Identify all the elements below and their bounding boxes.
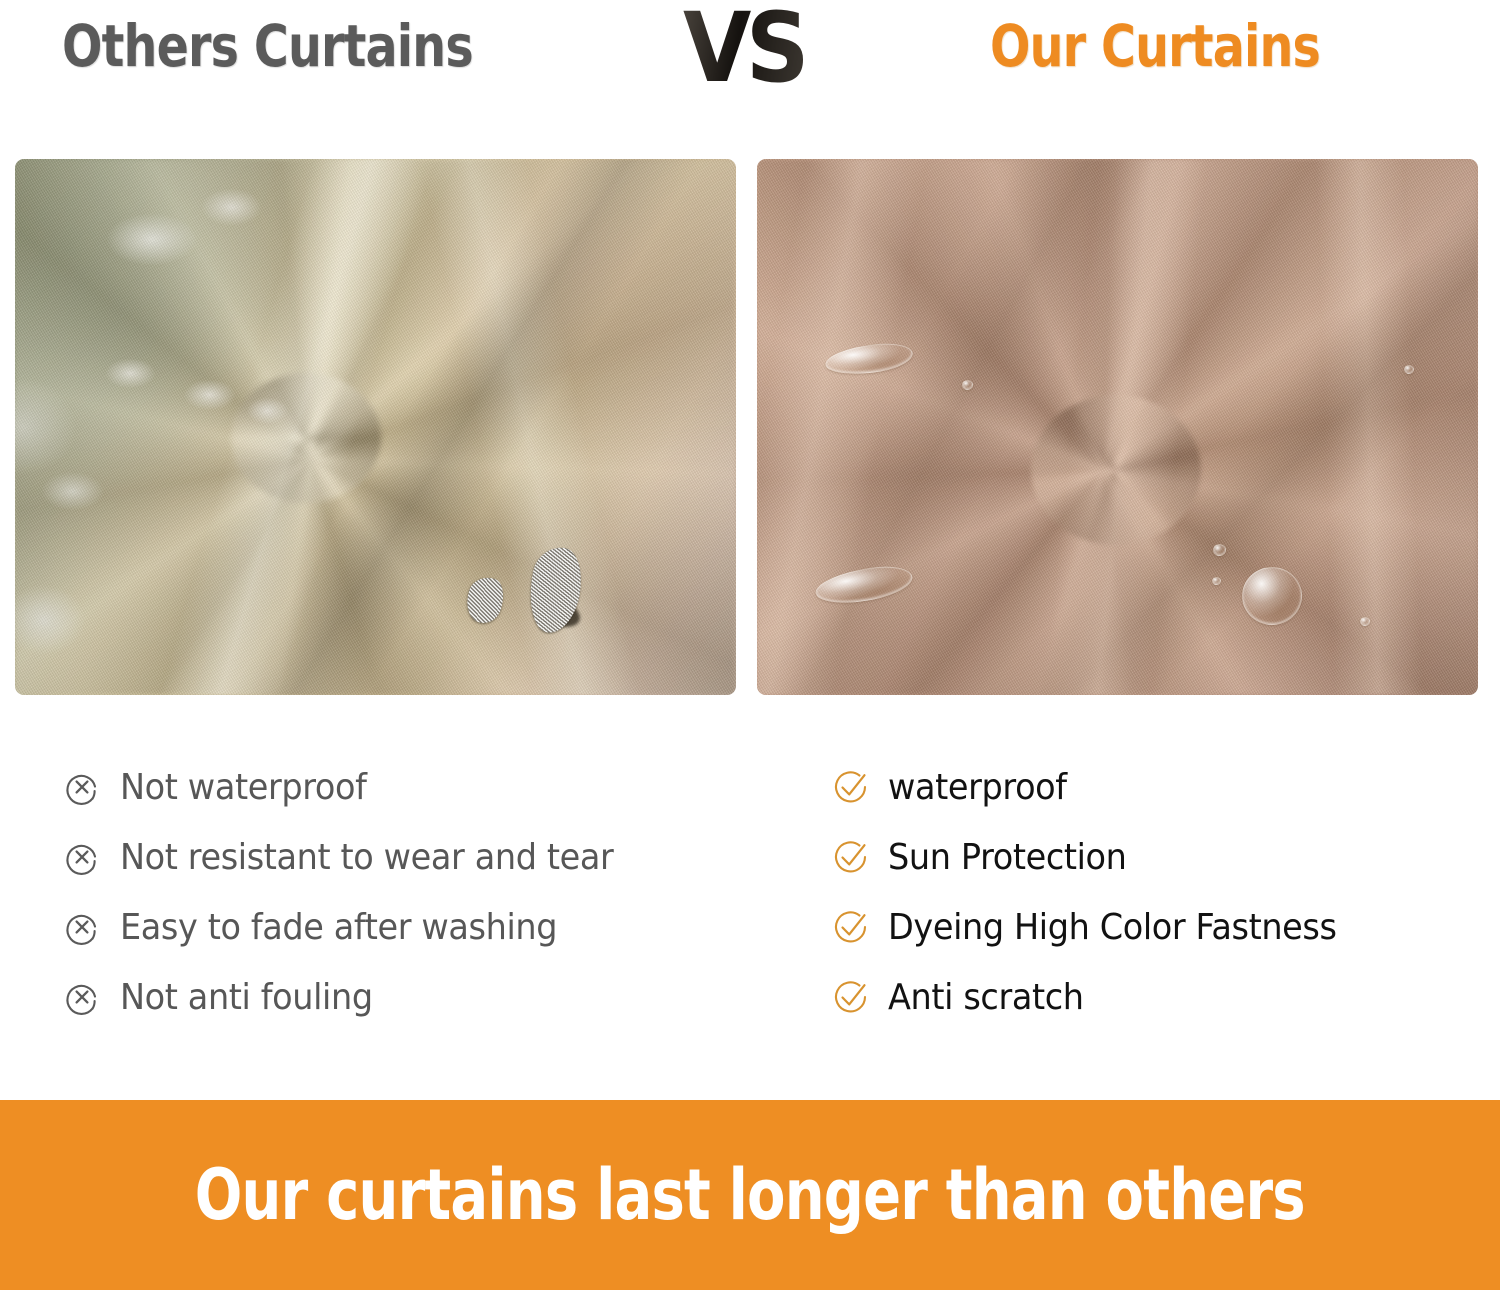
vs-logo: VS <box>683 0 804 104</box>
others-feature-list: Not waterproof Not resistant to wear and… <box>62 752 651 1032</box>
circle-check-icon <box>830 836 888 878</box>
list-item: Not resistant to wear and tear <box>62 822 651 892</box>
list-item-label: Not waterproof <box>120 767 367 808</box>
list-item-label: Easy to fade after washing <box>120 907 557 948</box>
circle-check-icon <box>830 766 888 808</box>
list-item-label: Sun Protection <box>888 837 1127 878</box>
circle-x-icon <box>62 767 120 807</box>
our-fabric-photo <box>757 159 1478 695</box>
water-droplet-tiny <box>962 380 973 390</box>
list-item: Sun Protection <box>830 822 1370 892</box>
list-item: Easy to fade after washing <box>62 892 651 962</box>
others-fabric-photo <box>15 159 736 695</box>
banner-headline: Our curtains last longer than others <box>195 1154 1305 1236</box>
circle-x-icon <box>62 837 120 877</box>
list-item-label: Anti scratch <box>888 977 1084 1018</box>
list-item: Not anti fouling <box>62 962 651 1032</box>
list-item: Dyeing High Color Fastness <box>830 892 1370 962</box>
circle-check-icon <box>830 976 888 1018</box>
our-feature-list: waterproof Sun Protection Dyeing High Co… <box>830 752 1370 1032</box>
water-droplet-large <box>1242 567 1302 625</box>
our-title: Our Curtains <box>990 12 1320 80</box>
list-item: Anti scratch <box>830 962 1370 1032</box>
list-item-label: waterproof <box>888 767 1067 808</box>
water-droplet-tiny <box>1212 577 1221 585</box>
others-title: Others Curtains <box>62 12 473 80</box>
bottom-banner: Our curtains last longer than others <box>0 1100 1500 1290</box>
weave-texture-cross <box>757 159 1478 695</box>
weave-texture-cross <box>15 159 736 695</box>
list-item-label: Dyeing High Color Fastness <box>888 907 1337 948</box>
water-droplet-tiny <box>1404 365 1414 374</box>
circle-check-icon <box>830 906 888 948</box>
circle-x-icon <box>62 907 120 947</box>
list-item: Not waterproof <box>62 752 651 822</box>
list-item-label: Not resistant to wear and tear <box>120 837 613 878</box>
water-droplet-tiny <box>1213 544 1226 556</box>
water-droplet-tiny <box>1360 617 1370 626</box>
list-item-label: Not anti fouling <box>120 977 373 1018</box>
circle-x-icon <box>62 977 120 1017</box>
list-item: waterproof <box>830 752 1370 822</box>
header: Others Curtains VS Our Curtains <box>0 0 1500 125</box>
